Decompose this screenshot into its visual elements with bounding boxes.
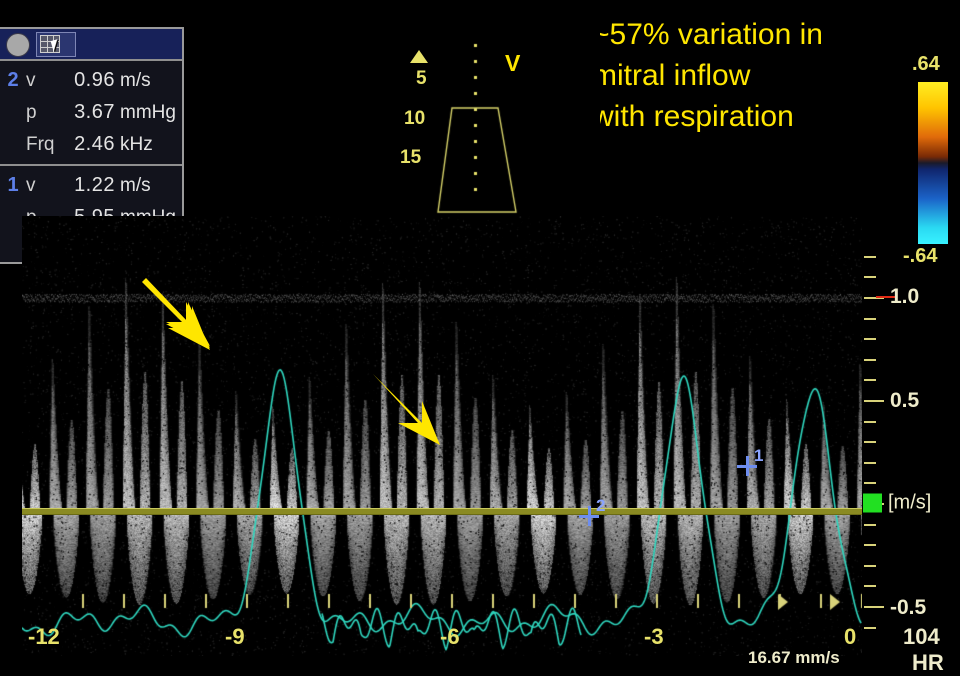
measurement-value: 0.96 — [60, 64, 115, 96]
time-tick-minus12: -12 — [28, 624, 60, 650]
velocity-tick — [864, 379, 876, 381]
measurement-row: 1 v 1.22 m/s — [0, 169, 182, 201]
cursor-marker-2-label: 2 — [596, 496, 605, 516]
velocity-tick — [864, 441, 876, 443]
velocity-tick — [864, 544, 876, 546]
colorbar-top-label: .64 — [912, 53, 940, 76]
velocity-label-neg05: -0.5 — [890, 596, 926, 620]
annotation-line-3: with respiration — [592, 96, 922, 137]
time-tick-zero: 0 — [844, 624, 856, 650]
velocity-tick — [864, 276, 876, 278]
measurement-row: p 3.67 mmHg — [0, 96, 182, 128]
velocity-tick — [864, 256, 876, 258]
measurement-index: 2 — [0, 64, 26, 96]
velocity-tick — [864, 585, 876, 587]
annotation-line-1: ~57% variation in — [592, 14, 922, 55]
heart-rate-value: 104 — [903, 624, 940, 650]
sweep-speed-label: 16.67 mm/s — [748, 648, 840, 668]
spectral-doppler-display[interactable]: 1 2 -12 -9 -6 -3 0 — [22, 216, 862, 656]
measurement-unit: kHz — [115, 129, 182, 161]
measurement-label: v — [26, 170, 60, 202]
time-tick-minus6: -6 — [440, 624, 460, 650]
velocity-tick — [864, 421, 876, 423]
velocity-axis: 1.0 0.5 [m/s] -0.5 104 HR — [862, 210, 960, 660]
velocity-tick — [864, 524, 876, 526]
annotation-line-2: mitral inflow — [592, 55, 922, 96]
probe-orientation-marker — [410, 50, 428, 63]
measurement-label: v — [26, 65, 60, 97]
velocity-label-1: 1.0 — [890, 285, 919, 309]
measurement-unit: m/s — [115, 65, 182, 97]
measurement-row: 2 v 0.96 m/s — [0, 64, 182, 96]
cursor-marker-1-label: 1 — [754, 446, 763, 466]
depth-label-5: 5 — [416, 68, 427, 90]
velocity-tick — [864, 462, 876, 464]
velocity-tick — [864, 400, 884, 402]
baseline-marker[interactable] — [863, 494, 882, 513]
view-label: V — [505, 50, 520, 77]
velocity-label-05: 0.5 — [890, 389, 919, 413]
arrow-1-icon — [140, 276, 220, 356]
measurement-label: Frq — [26, 129, 60, 161]
velocity-tick — [864, 565, 876, 567]
velocity-tick — [864, 359, 876, 361]
depth-label-15: 15 — [400, 147, 421, 169]
depth-label-10: 10 — [404, 108, 425, 130]
time-tick-minus9: -9 — [225, 624, 245, 650]
arrow-2-icon — [370, 371, 448, 449]
measurement-value: 1.22 — [60, 169, 115, 201]
time-tick-minus3: -3 — [644, 624, 664, 650]
echocardiogram-screen: 2 v 0.96 m/s p 3.67 mmHg Frq 2.46 kHz 1 … — [0, 0, 960, 676]
velocity-unit-label: [m/s] — [888, 492, 931, 515]
velocity-tick — [864, 627, 876, 629]
measurement-value: 2.46 — [60, 128, 115, 160]
heart-rate-label: HR — [912, 650, 944, 676]
measurement-label: p — [26, 97, 60, 129]
measurement-unit: m/s — [115, 170, 182, 202]
measurement-row: Frq 2.46 kHz — [0, 128, 182, 160]
annotation-text: ~57% variation in mitral inflow with res… — [592, 14, 922, 137]
velocity-tick — [864, 606, 884, 608]
velocity-tick — [864, 318, 876, 320]
measurement-index: 1 — [0, 169, 26, 201]
velocity-tick — [864, 338, 876, 340]
circle-icon[interactable] — [6, 33, 30, 57]
measurement-value: 3.67 — [60, 96, 115, 128]
measurement-panel-header[interactable] — [0, 29, 182, 61]
doppler-baseline — [22, 508, 862, 515]
measurement-unit: mmHg — [115, 97, 182, 129]
measurement-group-2[interactable]: 2 v 0.96 m/s p 3.67 mmHg Frq 2.46 kHz — [0, 61, 182, 166]
velocity-tick — [864, 482, 876, 484]
echo-sector-canvas — [330, 20, 600, 220]
echo-2d-image[interactable]: 5 10 15 V — [330, 20, 600, 220]
